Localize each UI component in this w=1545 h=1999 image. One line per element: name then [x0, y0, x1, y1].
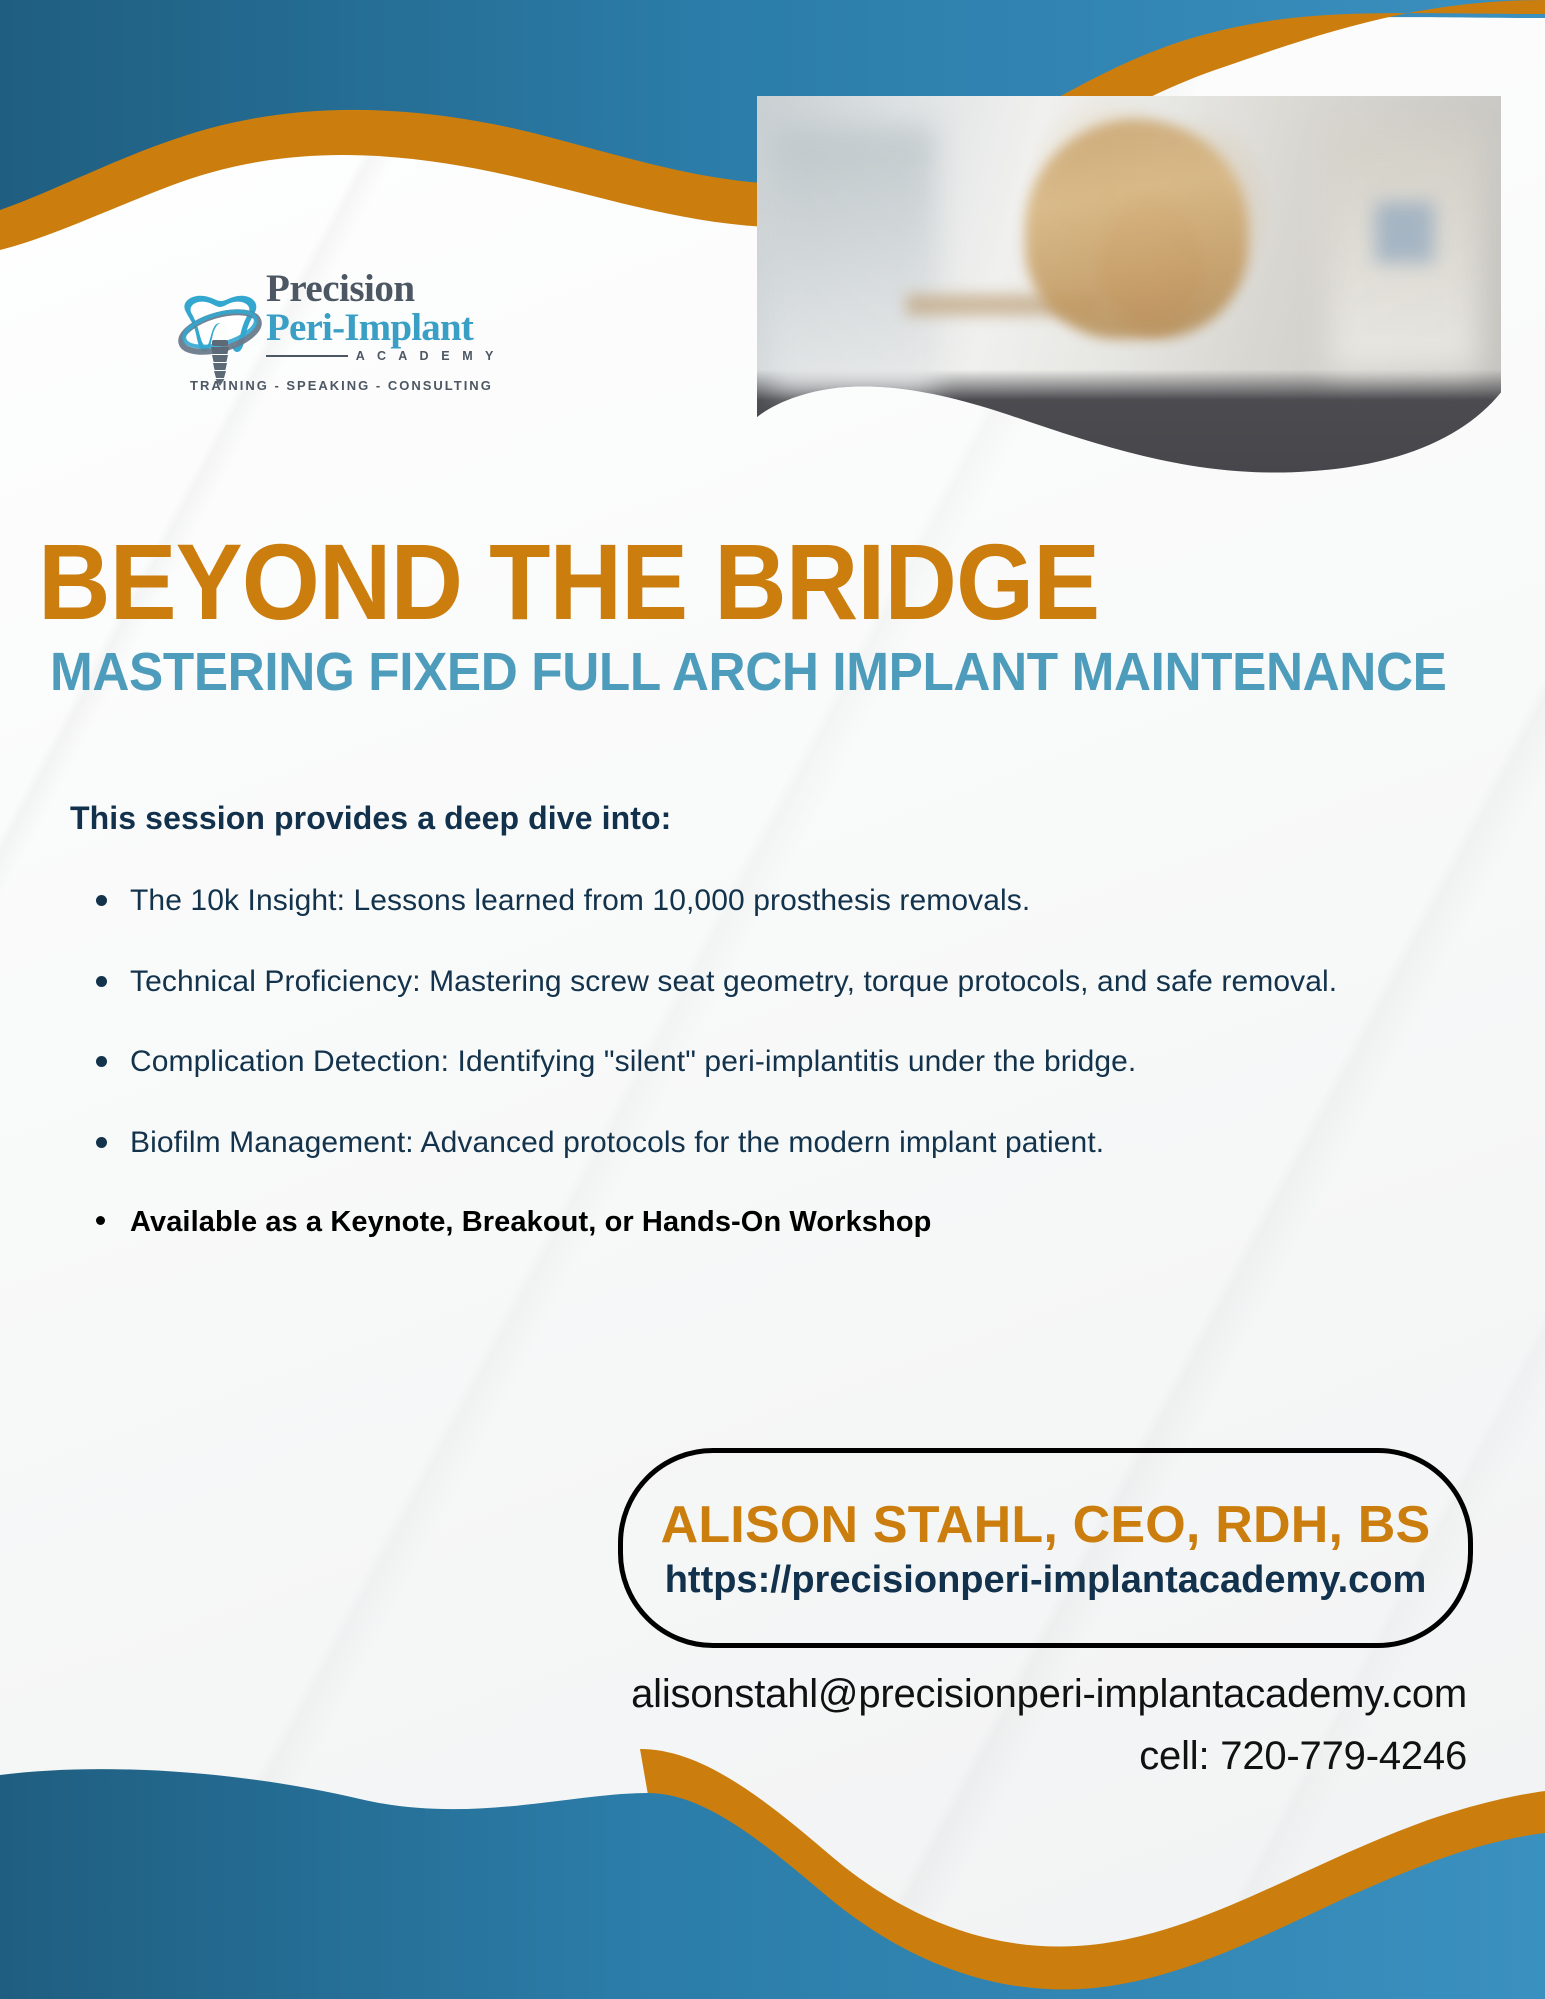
logo-academy-label: A C A D E M Y: [356, 349, 498, 363]
contact-phone[interactable]: cell: 720-779-4246: [1139, 1734, 1467, 1779]
list-item: The 10k Insight: Lessons learned from 10…: [88, 880, 1448, 923]
bottom-wave-decoration: [0, 1749, 1545, 1999]
photo-subject-hair: [1025, 119, 1248, 339]
logo-line-precision: Precision: [266, 270, 498, 308]
photo-clipped-frame: [757, 96, 1501, 476]
headline-block: BEYOND THE BRIDGE MASTERING FIXED FULL A…: [38, 532, 1458, 699]
logo-line-peri-implant: Peri-Implant: [266, 308, 498, 347]
contact-email[interactable]: alisonstahl@precisionperi-implantacademy…: [631, 1672, 1467, 1717]
page-title: BEYOND THE BRIDGE: [38, 532, 1359, 631]
list-item: Technical Proficiency: Mastering screw s…: [88, 961, 1448, 1004]
list-item: Biofilm Management: Advanced protocols f…: [88, 1122, 1448, 1165]
contact-pill: ALISON STAHL, CEO, RDH, BS https://preci…: [618, 1448, 1473, 1648]
bottom-wave-orange-band: [640, 1749, 1545, 1992]
bottom-wave-blue-shape: [0, 1769, 1545, 1999]
session-bullet-list: The 10k Insight: Lessons learned from 10…: [88, 880, 1448, 1282]
flyer-page: Precision Peri-Implant A C A D E M Y TRA…: [0, 0, 1545, 1999]
photo-background-frame-blur: [1375, 202, 1435, 263]
tooth-implant-logo-icon: [178, 274, 262, 386]
page-subtitle: MASTERING FIXED FULL ARCH IMPLANT MAINTE…: [50, 645, 1388, 699]
brand-logo: Precision Peri-Implant A C A D E M Y TRA…: [178, 270, 498, 400]
logo-divider-rule: [266, 355, 348, 357]
session-intro-heading: This session provides a deep dive into:: [70, 800, 671, 837]
list-item-availability: Available as a Keynote, Breakout, or Han…: [88, 1202, 1448, 1243]
photo-image: [757, 96, 1501, 476]
photo-background-left-blur: [772, 126, 936, 392]
speaker-name: ALISON STAHL, CEO, RDH, BS: [661, 1495, 1431, 1555]
website-link[interactable]: https://precisionperi-implantacademy.com: [665, 1559, 1427, 1602]
list-item: Complication Detection: Identifying "sil…: [88, 1041, 1448, 1084]
logo-wordmark: Precision Peri-Implant A C A D E M Y: [266, 270, 498, 363]
speaker-photo: [757, 96, 1501, 476]
logo-tagline: TRAINING - SPEAKING - CONSULTING: [190, 378, 490, 393]
logo-academy-row: A C A D E M Y: [266, 349, 498, 363]
